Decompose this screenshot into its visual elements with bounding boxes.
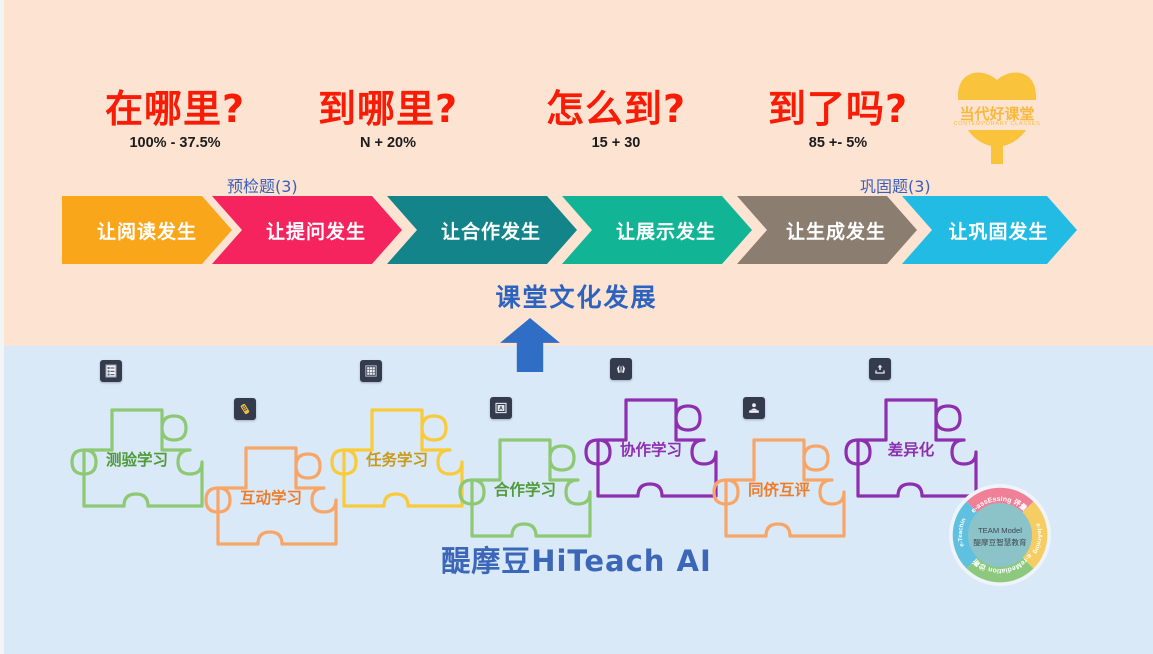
question-title-4: 到了吗?	[738, 88, 938, 131]
question-subtitle-3: 15 + 30	[516, 135, 716, 151]
puzzle-label-7: 差异化	[836, 438, 986, 460]
culture-development-label: 课堂文化发展	[0, 278, 1153, 314]
puzzle-label-6: 同侪互评	[704, 478, 854, 500]
question-title-3: 怎么到?	[516, 88, 716, 131]
export-upload-icon	[869, 358, 891, 380]
team-model-logo: e-assEssing 评量 e-leArning 学习 e-reMediati…	[948, 483, 1052, 587]
question-block-3: 怎么到? 15 + 30	[516, 88, 716, 151]
team-logo-center-line1: TEAM Model	[948, 526, 1052, 535]
question-subtitle-1: 100% - 37.5%	[70, 135, 280, 151]
question-block-1: 在哪里? 100% - 37.5%	[70, 88, 280, 151]
question-title-1: 在哪里?	[70, 88, 280, 131]
puzzle-label-1: 测验学习	[62, 448, 212, 470]
list-form-icon	[100, 360, 122, 382]
process-arrow-1[interactable]: 让阅读发生	[62, 196, 232, 264]
slide-canvas: 在哪里? 100% - 37.5% 到哪里? N + 20% 怎么到? 15 +…	[0, 0, 1153, 654]
question-subtitle-2: N + 20%	[288, 135, 488, 151]
ai-frame-icon: A	[490, 397, 512, 419]
process-arrow-3[interactable]: 让合作发生	[387, 196, 577, 264]
process-arrow-2[interactable]: 让提问发生	[212, 196, 402, 264]
process-arrow-4[interactable]: 让展示发生	[562, 196, 752, 264]
clover-logo-name-en: CONTEMPORARY CLASSES	[942, 121, 1052, 127]
question-title-2: 到哪里?	[288, 88, 488, 131]
question-block-4: 到了吗? 85 +- 5%	[738, 88, 938, 151]
arrow-label-consolidation: 巩固题(3)	[860, 173, 931, 197]
question-block-2: 到哪里? N + 20%	[288, 88, 488, 151]
puzzle-piece-6[interactable]: 同侪互评	[704, 432, 854, 550]
team-logo-center-line2: 醍摩豆智慧教育	[948, 537, 1052, 548]
question-subtitle-4: 85 +- 5%	[738, 135, 938, 151]
grid-icon	[360, 360, 382, 382]
process-arrow-6[interactable]: 让巩固发生	[902, 196, 1077, 264]
contemporary-classes-logo: 当代好课堂 CONTEMPORARY CLASSES	[942, 60, 1052, 166]
process-arrow-chain: 让阅读发生 让提问发生 让合作发生 让展示发生 让生成发生 让巩固发生	[62, 196, 1017, 264]
process-arrow-5[interactable]: 让生成发生	[737, 196, 917, 264]
puzzle-piece-1[interactable]: 测验学习	[62, 402, 212, 520]
clicker-remote-icon	[234, 398, 256, 420]
arrow-label-pretest: 预检题(3)	[227, 173, 298, 197]
collaborate-hands-icon	[610, 358, 632, 380]
svg-text:A: A	[499, 406, 503, 412]
person-upload-icon	[743, 397, 765, 419]
